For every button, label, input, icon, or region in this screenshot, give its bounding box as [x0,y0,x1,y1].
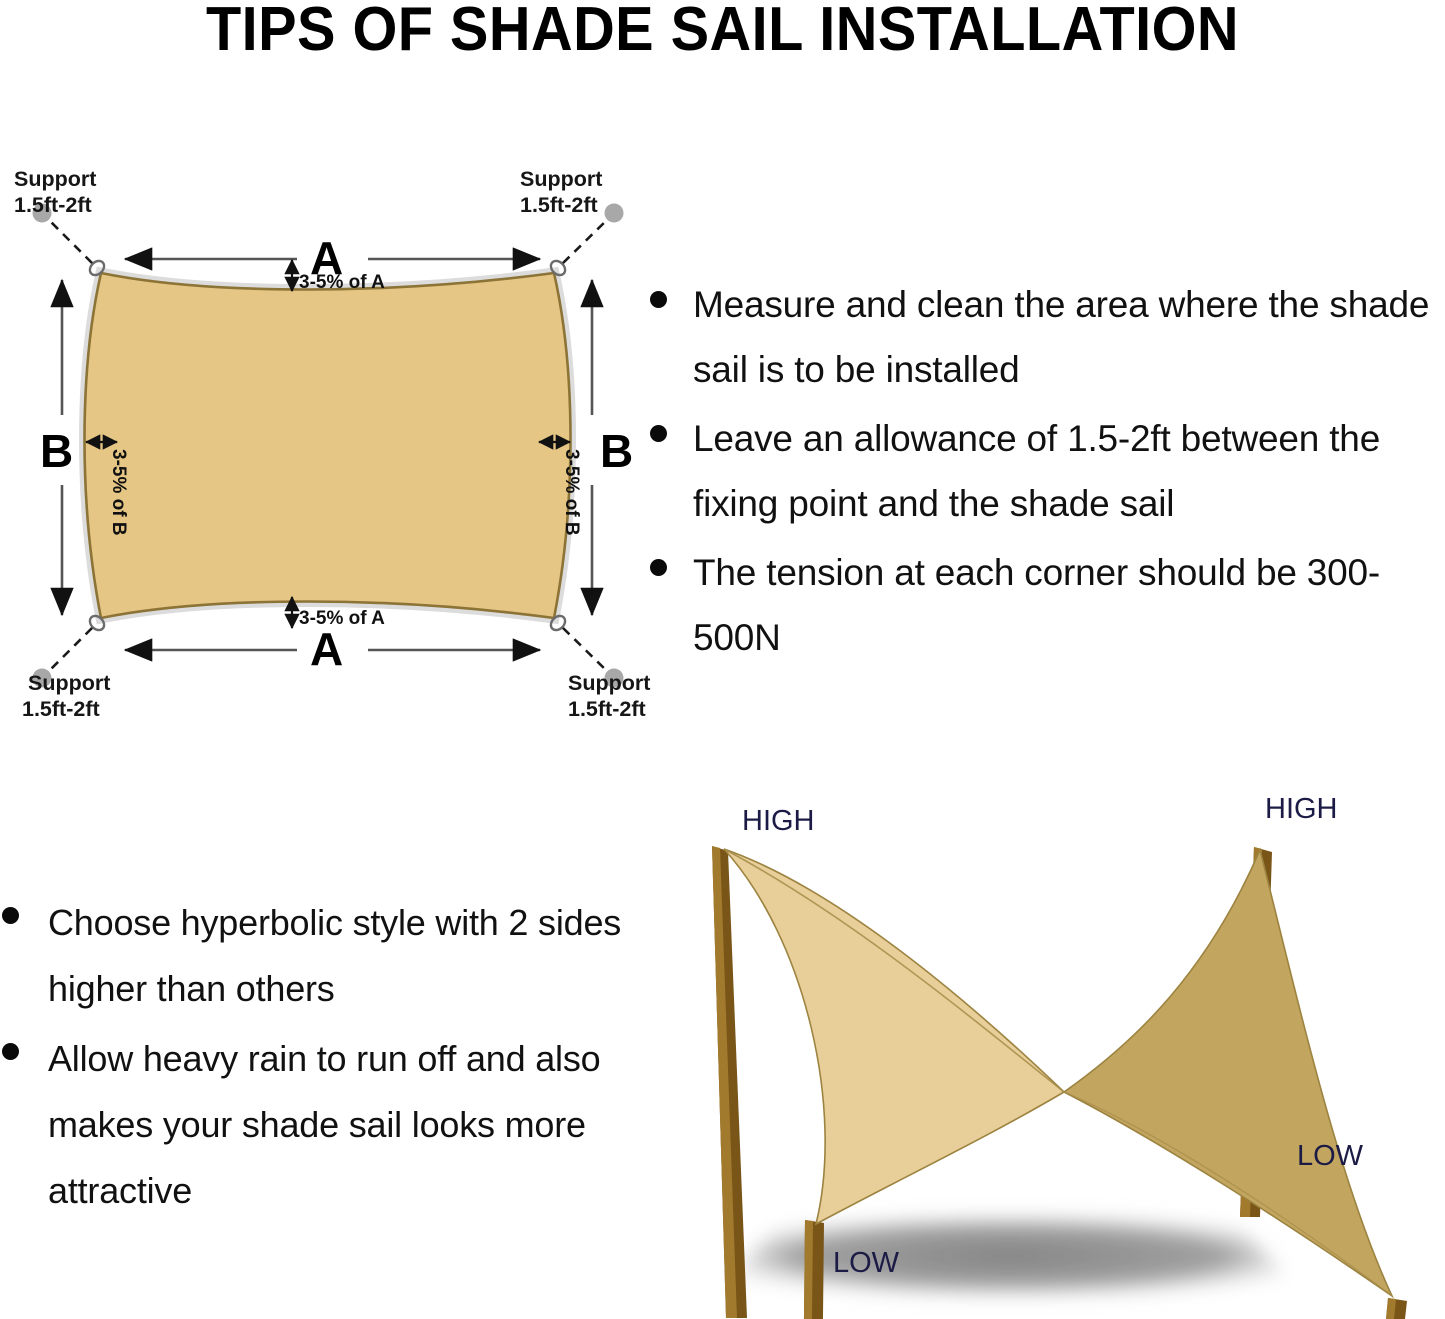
dimension-b-right-label: B [600,425,633,477]
support-label-top-left: Support 1.5ft-2ft [14,167,96,217]
support-label-bottom-right: Support 1.5ft-2ft [568,671,650,721]
support-label-text: Support [520,167,602,191]
label-low-left: LOW [833,1247,900,1279]
sail-panel-front [724,849,1064,1224]
dimension-height-right: B [592,280,633,615]
label-high-right: HIGH [1265,793,1338,825]
tips-list-top: Measure and clean the area where the sha… [650,272,1445,674]
bullet-icon [650,272,693,313]
dimension-height-left: B [40,280,73,615]
support-label-value: 1.5ft-2ft [22,697,100,721]
bullet-icon [650,540,693,581]
dimension-b-left-label: B [40,425,73,477]
curve-left-label: 3-5% of B [108,449,129,536]
label-low-right-text: LOW [1297,1140,1363,1173]
hyperbolic-sail-diagram: HIGH HIGH LOW LOW [668,780,1445,1319]
rectangular-sail-diagram: Support 1.5ft-2ft Support 1.5ft-2ft Supp… [0,160,660,730]
pole-high-left [712,846,747,1318]
curve-right-label: 3-5% of B [561,449,582,536]
ground-shadow [712,1216,1308,1296]
support-label-value: 1.5ft-2ft [520,193,598,217]
list-item: Allow heavy rain to run off and also mak… [2,1026,627,1224]
dimension-width-bottom: A [125,623,540,675]
tip-text: Leave an allowance of 1.5-2ft between th… [693,406,1445,536]
pole-low-left [803,1220,824,1319]
tips-list-bottom: Choose hyperbolic style with 2 sides hig… [2,890,627,1228]
curve-top-label: 3-5% of A [299,272,385,293]
bullet-icon [2,890,48,929]
tip-text: Choose hyperbolic style with 2 sides hig… [48,890,627,1022]
bullet-icon [2,1026,48,1065]
tip-text: Measure and clean the area where the sha… [693,272,1445,402]
label-high-left: HIGH [742,805,815,837]
infographic-page: TIPS OF SHADE SAIL INSTALLATION [0,0,1445,1319]
bullet-icon [650,406,693,447]
support-label-text: Support [14,167,96,191]
list-item: Choose hyperbolic style with 2 sides hig… [2,890,627,1022]
shade-sail-body [85,273,571,618]
dimension-a-bottom-label: A [310,623,343,675]
tip-text: The tension at each corner should be 300… [693,540,1445,670]
tip-text: Allow heavy rain to run off and also mak… [48,1026,627,1224]
list-item: Measure and clean the area where the sha… [650,272,1445,402]
support-label-top-right: Support 1.5ft-2ft [520,167,602,217]
page-title: TIPS OF SHADE SAIL INSTALLATION [51,0,1395,65]
curve-bottom-label: 3-5% of A [299,608,385,629]
support-label-value: 1.5ft-2ft [568,697,646,721]
list-item: The tension at each corner should be 300… [650,540,1445,670]
pole-low-right [1386,1298,1407,1319]
list-item: Leave an allowance of 1.5-2ft between th… [650,406,1445,536]
support-label-text: Support [28,671,110,695]
support-label-value: 1.5ft-2ft [14,193,92,217]
support-label-bottom-left: Support 1.5ft-2ft [22,671,110,721]
support-label-text: Support [568,671,650,695]
